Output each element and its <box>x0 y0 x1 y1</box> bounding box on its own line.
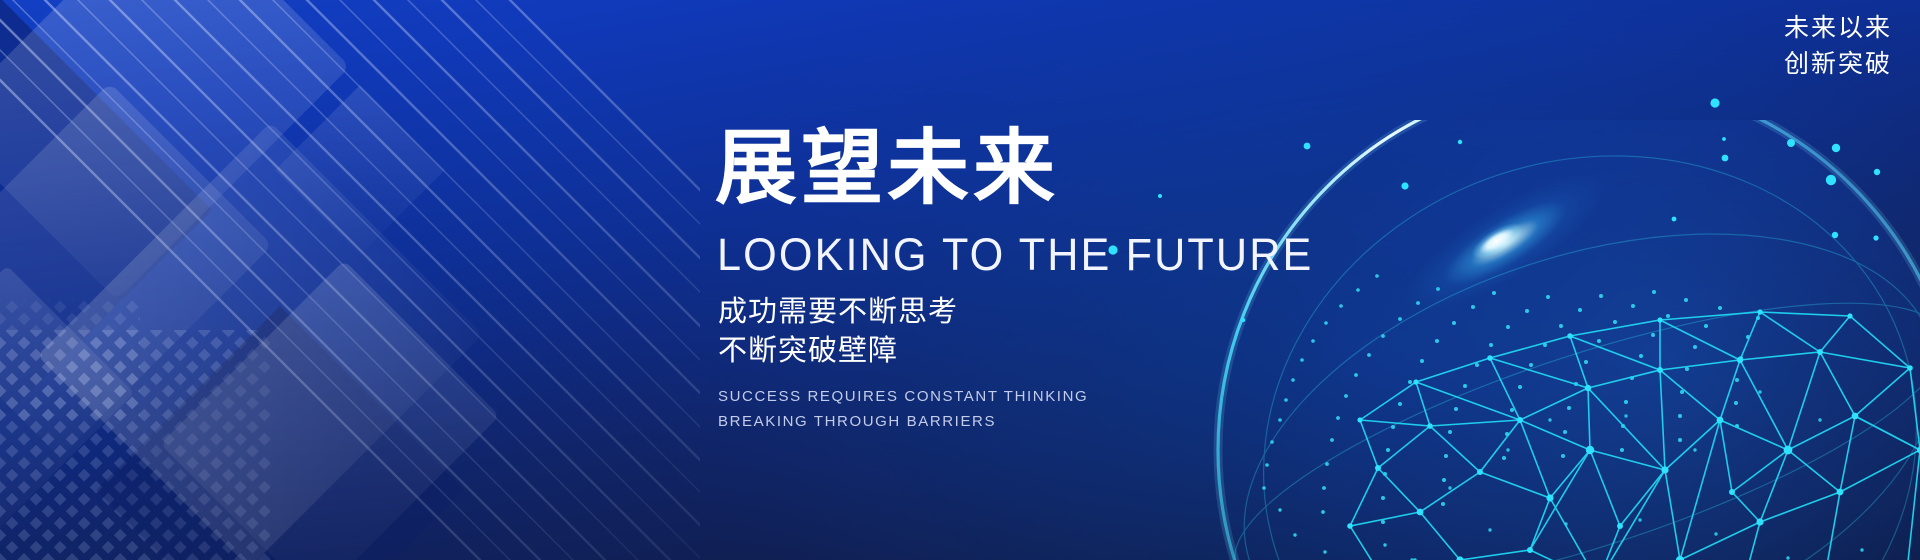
corner-tagline-line1: 未来以来 <box>1784 10 1892 46</box>
headline-block: 展望未来 LOOKING TO THE FUTURE 成功需要不断思考 不断突破… <box>715 128 1475 435</box>
subheading-english: SUCCESS REQUIRES CONSTANT THINKING BREAK… <box>718 385 1475 435</box>
headline-english: LOOKING TO THE FUTURE <box>717 232 1445 277</box>
corner-tagline: 未来以来 创新突破 <box>1784 10 1892 83</box>
subheading-english-line1: SUCCESS REQUIRES CONSTANT THINKING <box>718 385 1475 410</box>
corner-tagline-line2: 创新突破 <box>1784 46 1892 82</box>
subheading-chinese-line2: 不断突破壁障 <box>718 332 1475 371</box>
subheading-english-line2: BREAKING THROUGH BARRIERS <box>718 410 1475 435</box>
subheading-chinese: 成功需要不断思考 不断突破壁障 <box>718 293 1475 371</box>
headline-chinese: 展望未来 <box>715 128 1475 210</box>
subheading-chinese-line1: 成功需要不断思考 <box>718 293 1475 332</box>
banner-root: 展望未来 LOOKING TO THE FUTURE 成功需要不断思考 不断突破… <box>0 0 1920 560</box>
